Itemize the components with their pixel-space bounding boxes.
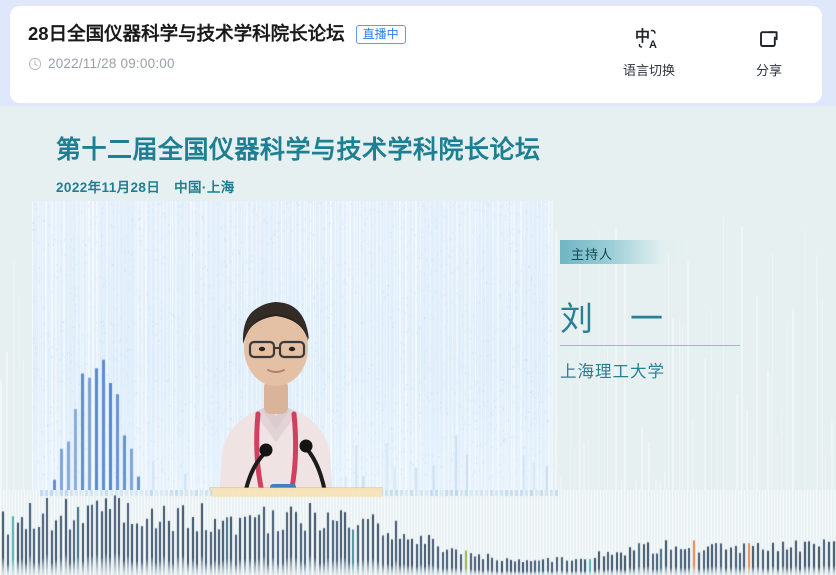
header-card: 28日全国仪器科学与技术学科院长论坛 直播中 2022/11/28 09:00:… <box>10 6 822 103</box>
host-name: 刘 一 <box>560 302 810 335</box>
forum-subtitle: 2022年11月28日 中国·上海 <box>56 176 541 196</box>
status-badge-live: 直播中 <box>356 25 406 44</box>
share-label: 分享 <box>756 60 782 79</box>
forum-title: 第十二届全国仪器科学与技术学科院长论坛 <box>56 136 541 165</box>
header-info: 28日全国仪器科学与技术学科院长论坛 直播中 2022/11/28 09:00:… <box>28 24 406 71</box>
host-organization: 上海理工大学 <box>560 358 810 382</box>
title-row: 28日全国仪器科学与技术学科院长论坛 直播中 <box>28 24 406 44</box>
bottom-waveform-bars <box>0 490 836 575</box>
language-switch-label: 语言切换 <box>623 60 675 79</box>
datetime-row: 2022/11/28 09:00:00 <box>28 56 406 71</box>
host-panel: 主持人 刘 一 上海理工大学 <box>560 240 810 382</box>
video-player-stage[interactable]: 第十二届全国仪器科学与技术学科院长论坛 2022年11月28日 中国·上海 <box>0 106 836 575</box>
header-actions: 中 A 语言切换 分享 <box>618 26 800 79</box>
translate-icon: 中 A <box>635 26 663 52</box>
page-title: 28日全国仪器科学与技术学科院长论坛 <box>28 24 345 44</box>
host-role-label: 主持人 <box>571 244 613 263</box>
host-role-badge: 主持人 <box>560 240 688 264</box>
svg-text:A: A <box>649 39 657 51</box>
svg-text:中: 中 <box>635 27 650 45</box>
share-icon <box>758 26 780 52</box>
share-button[interactable]: 分享 <box>738 26 800 79</box>
speaker-figure <box>196 256 356 516</box>
stage-heading: 第十二届全国仪器科学与技术学科院长论坛 2022年11月28日 中国·上海 <box>56 136 541 196</box>
event-datetime: 2022/11/28 09:00:00 <box>48 56 175 71</box>
clock-icon <box>28 57 42 71</box>
host-divider <box>560 345 740 346</box>
language-switch-button[interactable]: 中 A 语言切换 <box>618 26 680 79</box>
